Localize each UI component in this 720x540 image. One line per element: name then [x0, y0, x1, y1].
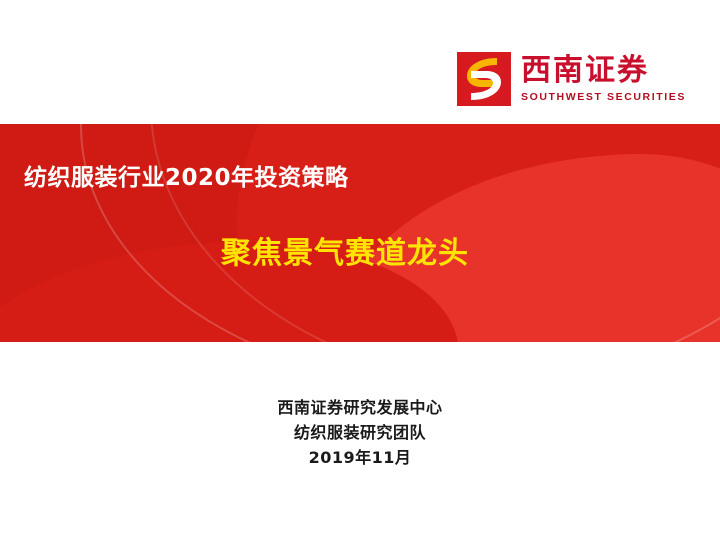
footer-team: 纺织服装研究团队: [0, 420, 720, 445]
banner-content: 纺织服装行业2020年投资策略 聚焦景气赛道龙头: [0, 124, 720, 342]
slide-main-title: 纺织服装行业2020年投资策略: [24, 158, 349, 192]
title-banner: 纺织服装行业2020年投资策略 聚焦景气赛道龙头: [0, 124, 720, 342]
slide-sub-title: 聚焦景气赛道龙头: [0, 228, 690, 272]
presentation-title-slide: 西南证券 SOUTHWEST SECURITIES 纺织服装行业2020年投资策…: [0, 0, 720, 540]
slide-footer: 西南证券研究发展中心 纺织服装研究团队 2019年11月: [0, 395, 720, 470]
footer-organization: 西南证券研究发展中心: [0, 395, 720, 420]
logo-english-name: SOUTHWEST SECURITIES: [521, 92, 686, 103]
logo-chinese-name: 西南证券: [521, 56, 686, 86]
footer-date: 2019年11月: [0, 445, 720, 470]
logo-text: 西南证券 SOUTHWEST SECURITIES: [521, 56, 686, 103]
southwest-securities-logo-mark: [457, 52, 511, 106]
company-logo: 西南证券 SOUTHWEST SECURITIES: [457, 52, 686, 106]
